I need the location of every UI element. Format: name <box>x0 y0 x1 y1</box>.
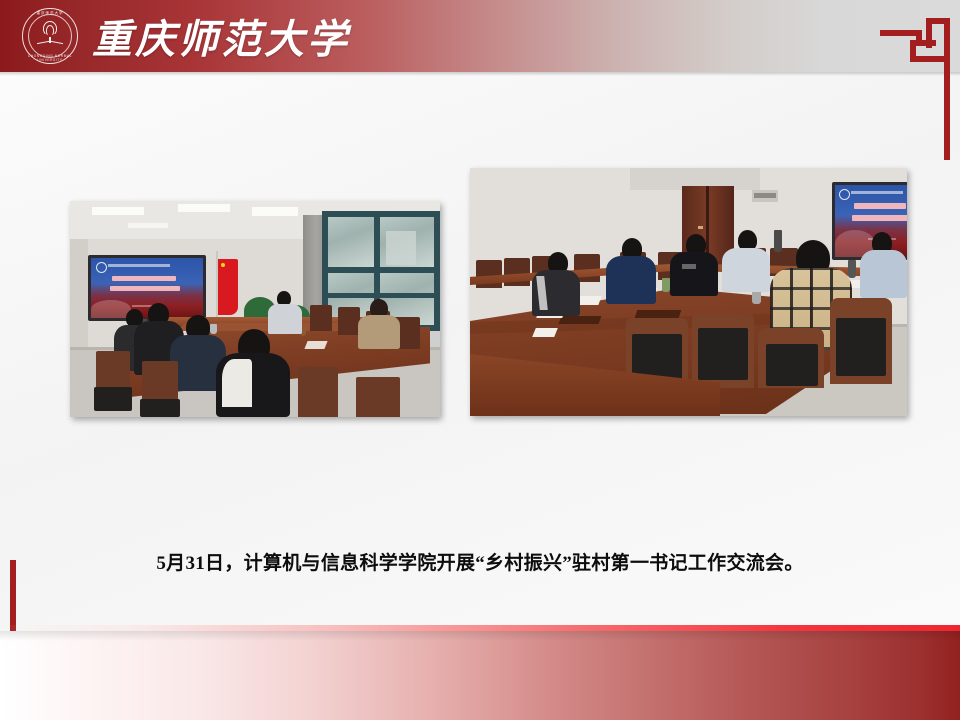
seal-flame-inner-icon <box>46 25 54 36</box>
seal-ring-text-bottom: CHONGQING NORMAL UNIVERSITY <box>22 54 78 62</box>
meeting-photo-right <box>470 168 907 416</box>
seal-ring-text-top: 重庆师范大学 <box>22 11 78 16</box>
seal-book-left-icon <box>37 35 49 44</box>
seal-book-spine-icon <box>49 37 51 43</box>
chinese-fret-corner-top-right-icon <box>880 10 950 160</box>
meeting-photo-right-scene <box>470 168 907 416</box>
footer-band <box>0 631 960 720</box>
university-seal-icon: 重庆师范大学 CHONGQING NORMAL UNIVERSITY <box>22 8 78 64</box>
slide-canvas: 重庆师范大学 CHONGQING NORMAL UNIVERSITY 重庆师范大… <box>0 0 960 720</box>
meeting-photo-left <box>70 201 440 417</box>
seal-book-right-icon <box>51 35 63 44</box>
header-shadow <box>0 72 960 76</box>
seal-emblem <box>36 21 64 45</box>
university-wordmark: 重庆师范大学 <box>92 8 350 64</box>
slide-caption: 5月31日，计算机与信息科学学院开展“乡村振兴”驻村第一书记工作交流会。 <box>0 548 960 575</box>
meeting-photo-left-scene <box>70 201 440 417</box>
footer-band-shade <box>0 631 960 641</box>
